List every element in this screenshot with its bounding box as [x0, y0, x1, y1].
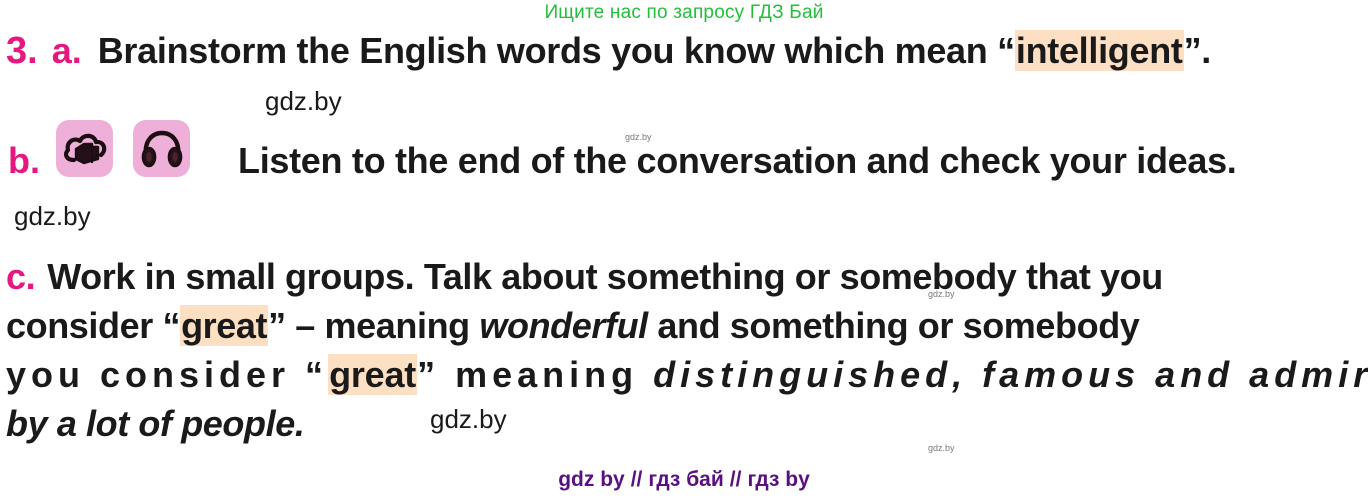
task-text-a: Brainstorm the English words you know wh…: [98, 30, 1211, 72]
headphones-icon: [139, 129, 185, 169]
task-c-line-3: you consider “great” meaning distinguish…: [0, 350, 1368, 399]
task-c-line1-text: Work in small groups. Talk about somethi…: [47, 256, 1163, 297]
task-c-line3-seg1: you consider “: [6, 354, 328, 395]
highlighted-word-great-2: great: [328, 354, 417, 395]
sub-item-letter-c: c.: [6, 256, 47, 297]
headphones-icon-box: [133, 120, 190, 177]
footer-links: gdz by//гдз бай//гдз by: [0, 468, 1368, 492]
footer-separator-1: //: [625, 468, 649, 491]
sub-item-letter-a: a.: [52, 30, 98, 72]
footer-part-1: gdz by: [558, 468, 625, 491]
task-text-b: Listen to the end of the conversation an…: [238, 140, 1237, 182]
task-c-line3-seg3: ” meaning: [417, 354, 653, 395]
highlighted-word-intelligent: intelligent: [1015, 30, 1184, 71]
exercise-item-c: c.Work in small groups. Talk about somet…: [0, 252, 1368, 448]
watermark-gdz-3: gdz.by: [430, 404, 507, 435]
task-c-line2-seg1: consider “: [6, 305, 180, 346]
watermark-gdz-tiny-1: gdz.by: [625, 132, 652, 142]
sub-item-letter-b: b.: [0, 143, 56, 179]
task-c-line2-seg3: ” – meaning: [268, 305, 479, 346]
watermark-gdz-2: gdz.by: [14, 201, 91, 232]
cloud-folder-icon: [62, 130, 108, 168]
footer-part-2: гдз бай: [648, 468, 723, 491]
watermark-gdz-1: gdz.by: [265, 86, 342, 117]
promo-banner: Ищите нас по запросу ГДЗ Бай: [0, 2, 1368, 24]
exercise-item-a: 3. a. Brainstorm the English words you k…: [0, 30, 1211, 73]
cloud-folder-icon-box: [56, 120, 113, 177]
task-c-line-4: by a lot of people.: [0, 399, 1368, 448]
task-a-text-before: Brainstorm the English words you know wh…: [98, 30, 1015, 71]
task-c-line3-italic-distinguished: distinguished, famous and admired: [653, 354, 1368, 395]
task-a-text-after: ”.: [1184, 30, 1211, 71]
task-c-line-2: consider “great” – meaning wonderful and…: [0, 301, 1368, 350]
task-c-line-1: c.Work in small groups. Talk about somet…: [0, 252, 1368, 301]
exercise-item-b: b. Listen to the end of the conversation…: [0, 120, 1237, 177]
footer-separator-2: //: [724, 468, 748, 491]
task-c-line2-seg5: and something or somebody: [648, 305, 1140, 346]
highlighted-word-great-1: great: [180, 305, 268, 346]
watermark-gdz-tiny-3: gdz.by: [928, 443, 955, 453]
exercise-number: 3.: [0, 30, 52, 73]
task-c-line2-italic-wonderful: wonderful: [479, 305, 647, 346]
task-c-line4-italic: by a lot of people.: [6, 403, 304, 444]
footer-part-3: гдз by: [747, 468, 809, 491]
watermark-gdz-tiny-2: gdz.by: [928, 289, 955, 299]
